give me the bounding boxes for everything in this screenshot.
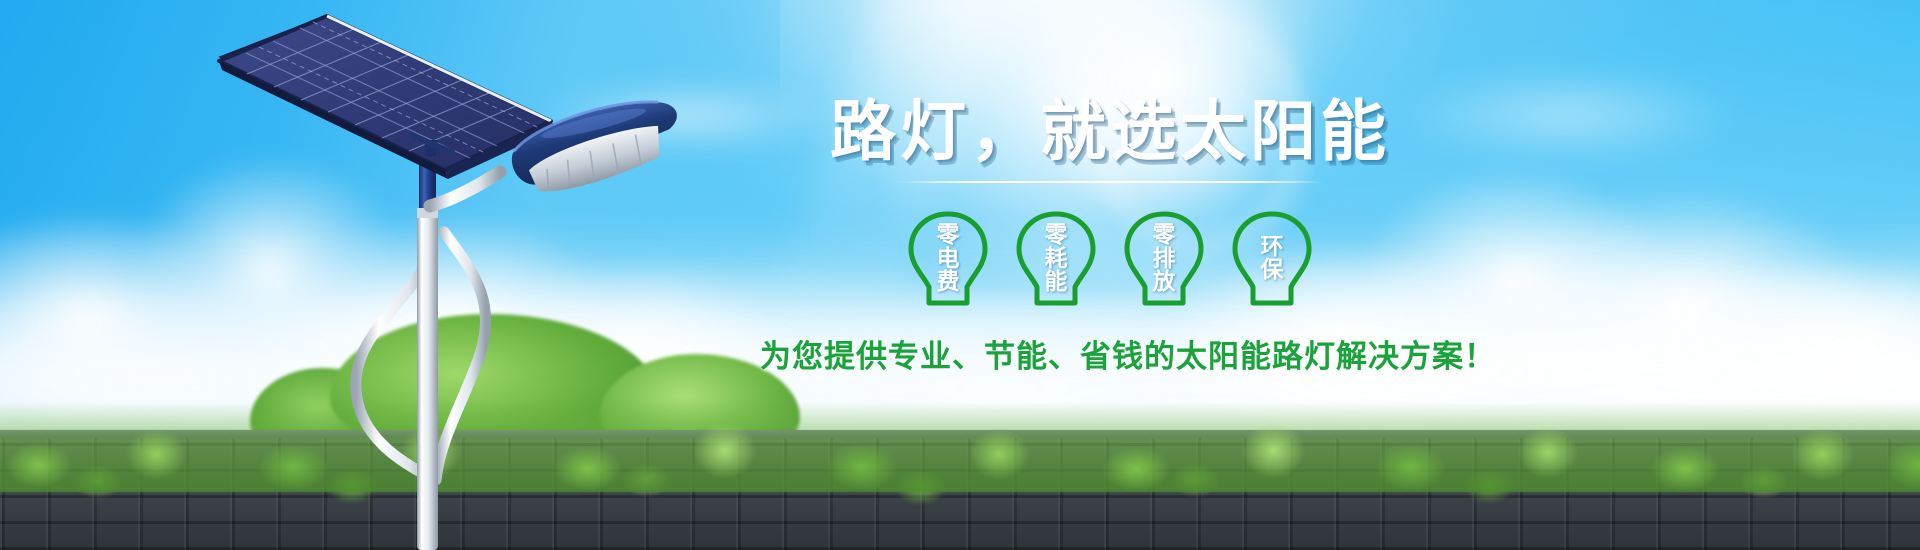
badge-labels: 环 保 <box>1261 236 1284 283</box>
badge-line2: 放 <box>1153 271 1176 294</box>
badge-line2: 能 <box>1045 271 1068 294</box>
feature-badge-list: 零 电 费 零 耗 能 零 <box>760 209 1460 309</box>
title-divider <box>895 181 1325 183</box>
badge-line1: 耗 <box>1045 248 1068 271</box>
badge-labels: 零 排 放 <box>1153 224 1176 294</box>
banner-subtitle: 为您提供专业、节能、省钱的太阳能路灯解决方案！ <box>760 331 1460 376</box>
badge-zero: 零 <box>1153 224 1176 247</box>
badge-zero: 零 <box>937 224 960 247</box>
badge-line1: 电 <box>937 248 960 271</box>
solar-street-light-banner: 路灯，就选太阳能 零 电 费 零 耗 能 <box>0 0 1920 550</box>
badge-labels: 零 耗 能 <box>1045 224 1068 294</box>
badge-line2: 费 <box>937 271 960 294</box>
feature-badge: 零 排 放 <box>1121 209 1207 309</box>
feature-badge: 环 保 <box>1229 209 1315 309</box>
badge-labels: 零 电 费 <box>937 224 960 294</box>
badge-line2: 保 <box>1261 259 1284 282</box>
banner-copy: 路灯，就选太阳能 零 电 费 零 耗 能 <box>760 96 1460 376</box>
badge-line1: 环 <box>1261 236 1284 259</box>
ground-layer <box>0 422 1920 550</box>
feature-badge: 零 电 费 <box>905 209 991 309</box>
badge-zero: 零 <box>1045 224 1068 247</box>
page-title: 路灯，就选太阳能 <box>760 96 1460 167</box>
ivy-foliage <box>0 402 1920 492</box>
badge-line1: 排 <box>1153 248 1176 271</box>
feature-badge: 零 耗 能 <box>1013 209 1099 309</box>
